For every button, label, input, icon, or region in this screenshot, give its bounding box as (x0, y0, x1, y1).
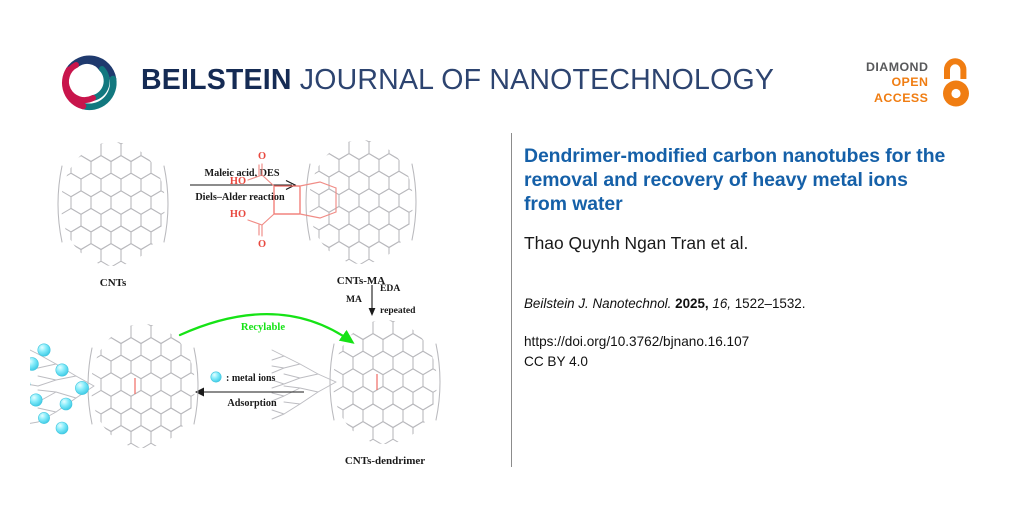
label-diels-alder-reaction: Diels–Alder reaction (195, 192, 285, 203)
metal-ion (56, 422, 68, 434)
metal-ion (60, 398, 72, 410)
citation-pages: 1522–1532. (735, 296, 806, 311)
article-authors: Thao Quynh Ngan Tran et al. (524, 233, 954, 255)
graphical-abstract: CNTs Maleic acid, DES Diels–Alder reacti… (30, 130, 490, 475)
article-info-panel: Dendrimer-modified carbon nanotubes for … (524, 144, 954, 371)
citation-volume: 16, (712, 296, 731, 311)
label-repeated: repeated (380, 305, 416, 316)
label-cnts: CNTs (100, 277, 127, 289)
label-o-top: O (258, 151, 266, 162)
label-cnts-dendrimer: CNTs-dendrimer (345, 455, 425, 467)
article-links: https://doi.org/10.3762/bjnano.16.107 CC… (524, 332, 954, 371)
arrow-left-head (195, 388, 204, 397)
article-doi-link[interactable]: https://doi.org/10.3762/bjnano.16.107 (524, 332, 954, 351)
vertical-divider (511, 133, 512, 467)
label-adsorption: Adsorption (227, 398, 277, 409)
masthead: BEILSTEIN JOURNAL OF NANOTECHNOLOGY DIAM… (0, 0, 1024, 130)
label-ho-lower: HO (230, 209, 246, 220)
oa-label-diamond: DIAMOND (866, 60, 928, 75)
reaction-scheme-figure: CNTs Maleic acid, DES Diels–Alder reacti… (30, 130, 490, 475)
article-license: CC BY 4.0 (524, 352, 954, 371)
dendrimer-branches (272, 350, 336, 419)
adsorption-arrow: : metal ions Adsorption (195, 372, 304, 409)
oa-label-access: ACCESS (866, 91, 928, 106)
metal-ion (38, 412, 49, 423)
reaction-arrow-middle: MA EDA repeated (346, 283, 416, 316)
label-ho-upper: HO (230, 176, 246, 187)
article-card-page: BEILSTEIN JOURNAL OF NANOTECHNOLOGY DIAM… (0, 0, 1024, 512)
arrow-down-head (369, 308, 376, 316)
label-metal-ions: : metal ions (226, 373, 276, 384)
label-ma: MA (346, 294, 362, 305)
open-access-label-group: DIAMOND OPEN ACCESS (866, 60, 928, 105)
label-cnts-ma: CNTs-MA (337, 275, 386, 287)
label-o-bottom: O (258, 239, 266, 250)
metal-ion-group (30, 344, 89, 434)
metal-ion-legend-icon (211, 372, 221, 382)
structure-metal-loaded-cnt (30, 320, 201, 449)
wordmark-journal-of-nanotechnology: JOURNAL OF NANOTECHNOLOGY (300, 64, 774, 96)
citation-year: 2025, (675, 296, 709, 311)
journal-wordmark: BEILSTEIN JOURNAL OF NANOTECHNOLOGY (141, 66, 774, 97)
structure-cnts-ma: O HO HO O CNTs-MA (230, 136, 419, 287)
recyclable-arrow: Recylable (180, 314, 352, 342)
wordmark-beilstein: BEILSTEIN (141, 64, 292, 96)
journal-brand-lockup[interactable]: BEILSTEIN JOURNAL OF NANOTECHNOLOGY (57, 48, 774, 114)
article-citation: Beilstein J. Nanotechnol. 2025, 16, 1522… (524, 295, 954, 312)
label-eda: EDA (380, 283, 400, 294)
structure-cnts: CNTs (58, 138, 171, 289)
metal-ion (75, 381, 88, 394)
diamond-open-access-badge[interactable]: DIAMOND OPEN ACCESS (866, 57, 975, 109)
metal-ion (56, 364, 68, 376)
metal-ion (38, 344, 50, 356)
beilstein-swirl-logo-icon (57, 48, 123, 114)
citation-journal: Beilstein J. Nanotechnol. (524, 296, 671, 311)
article-title: Dendrimer-modified carbon nanotubes for … (524, 144, 954, 216)
metal-ion (30, 394, 42, 406)
label-recylable: Recylable (241, 322, 285, 333)
oa-label-open: OPEN (866, 75, 928, 90)
open-lock-icon (937, 57, 975, 109)
